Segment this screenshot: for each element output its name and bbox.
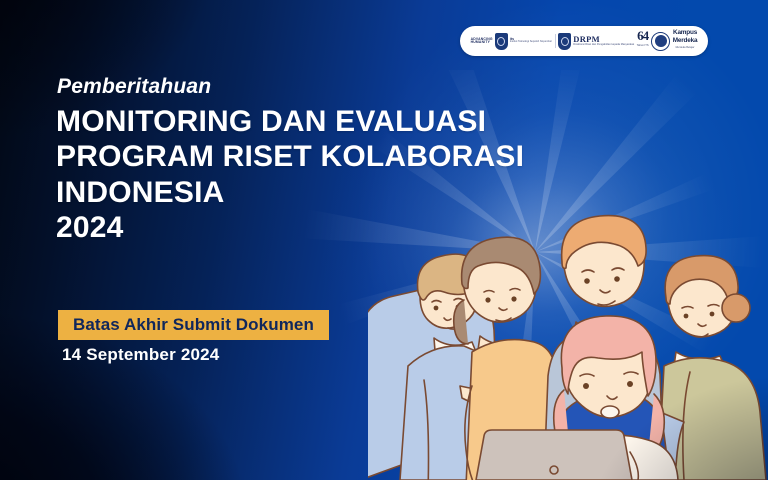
page-title: MONITORING DAN EVALUASI PROGRAM RISET KO… bbox=[56, 104, 576, 246]
its-mark-sub: Institut Teknologi Sepuluh Nopember bbox=[510, 41, 552, 44]
logo-its-advancing-humanity: ADVANCING HUMANITY its Institut Teknolog… bbox=[471, 30, 552, 52]
its-shield-icon bbox=[495, 33, 508, 50]
kampus-merdeka-line1: Kampus bbox=[673, 30, 697, 36]
deadline-date: 14 September 2024 bbox=[62, 345, 219, 365]
drpm-text: DRPM Direktorat Riset dan Pengabdian kep… bbox=[573, 35, 634, 46]
headline-line-1: MONITORING DAN EVALUASI bbox=[56, 104, 576, 139]
kicker-text: Pemberitahuan bbox=[57, 75, 211, 99]
its-mark: its Institut Teknologi Sepuluh Nopember bbox=[510, 38, 552, 44]
deadline-badge: Batas Akhir Submit Dokumen bbox=[58, 310, 329, 340]
logo-anniversary-64: 64 Tahun ITS bbox=[637, 30, 649, 52]
headline-line-2: PROGRAM RISET KOLABORASI bbox=[56, 139, 576, 174]
tut-wuri-handayani-seal-icon bbox=[651, 32, 670, 51]
headline-line-3: INDONESIA bbox=[56, 175, 576, 210]
drpm-shield-icon bbox=[558, 33, 571, 50]
poster-canvas: ADVANCING HUMANITY its Institut Teknolog… bbox=[0, 0, 768, 480]
logo-divider bbox=[555, 34, 556, 48]
drpm-sub: Direktorat Riset dan Pengabdian kepada M… bbox=[573, 44, 634, 47]
anniversary-sub: Tahun ITS bbox=[637, 45, 649, 47]
kampus-merdeka-sub: Merdeka Belajar bbox=[676, 47, 695, 49]
its-tagline: ADVANCING HUMANITY bbox=[471, 38, 493, 45]
headline-line-4: 2024 bbox=[56, 210, 576, 245]
kampus-merdeka-line2: Merdeka bbox=[673, 38, 698, 44]
anniversary-number: 64 bbox=[637, 30, 648, 42]
logo-drpm: DRPM Direktorat Riset dan Pengabdian kep… bbox=[558, 30, 634, 52]
its-tagline-line2: HUMANITY bbox=[471, 41, 493, 44]
footer: MORE INFORMATION CALL US 081333250025 (A… bbox=[0, 420, 768, 480]
logo-tut-wuri-handayani bbox=[651, 30, 670, 52]
logo-bar: ADVANCING HUMANITY its Institut Teknolog… bbox=[460, 26, 708, 56]
logo-kampus-merdeka: Kampus Merdeka Merdeka Belajar bbox=[673, 30, 698, 52]
